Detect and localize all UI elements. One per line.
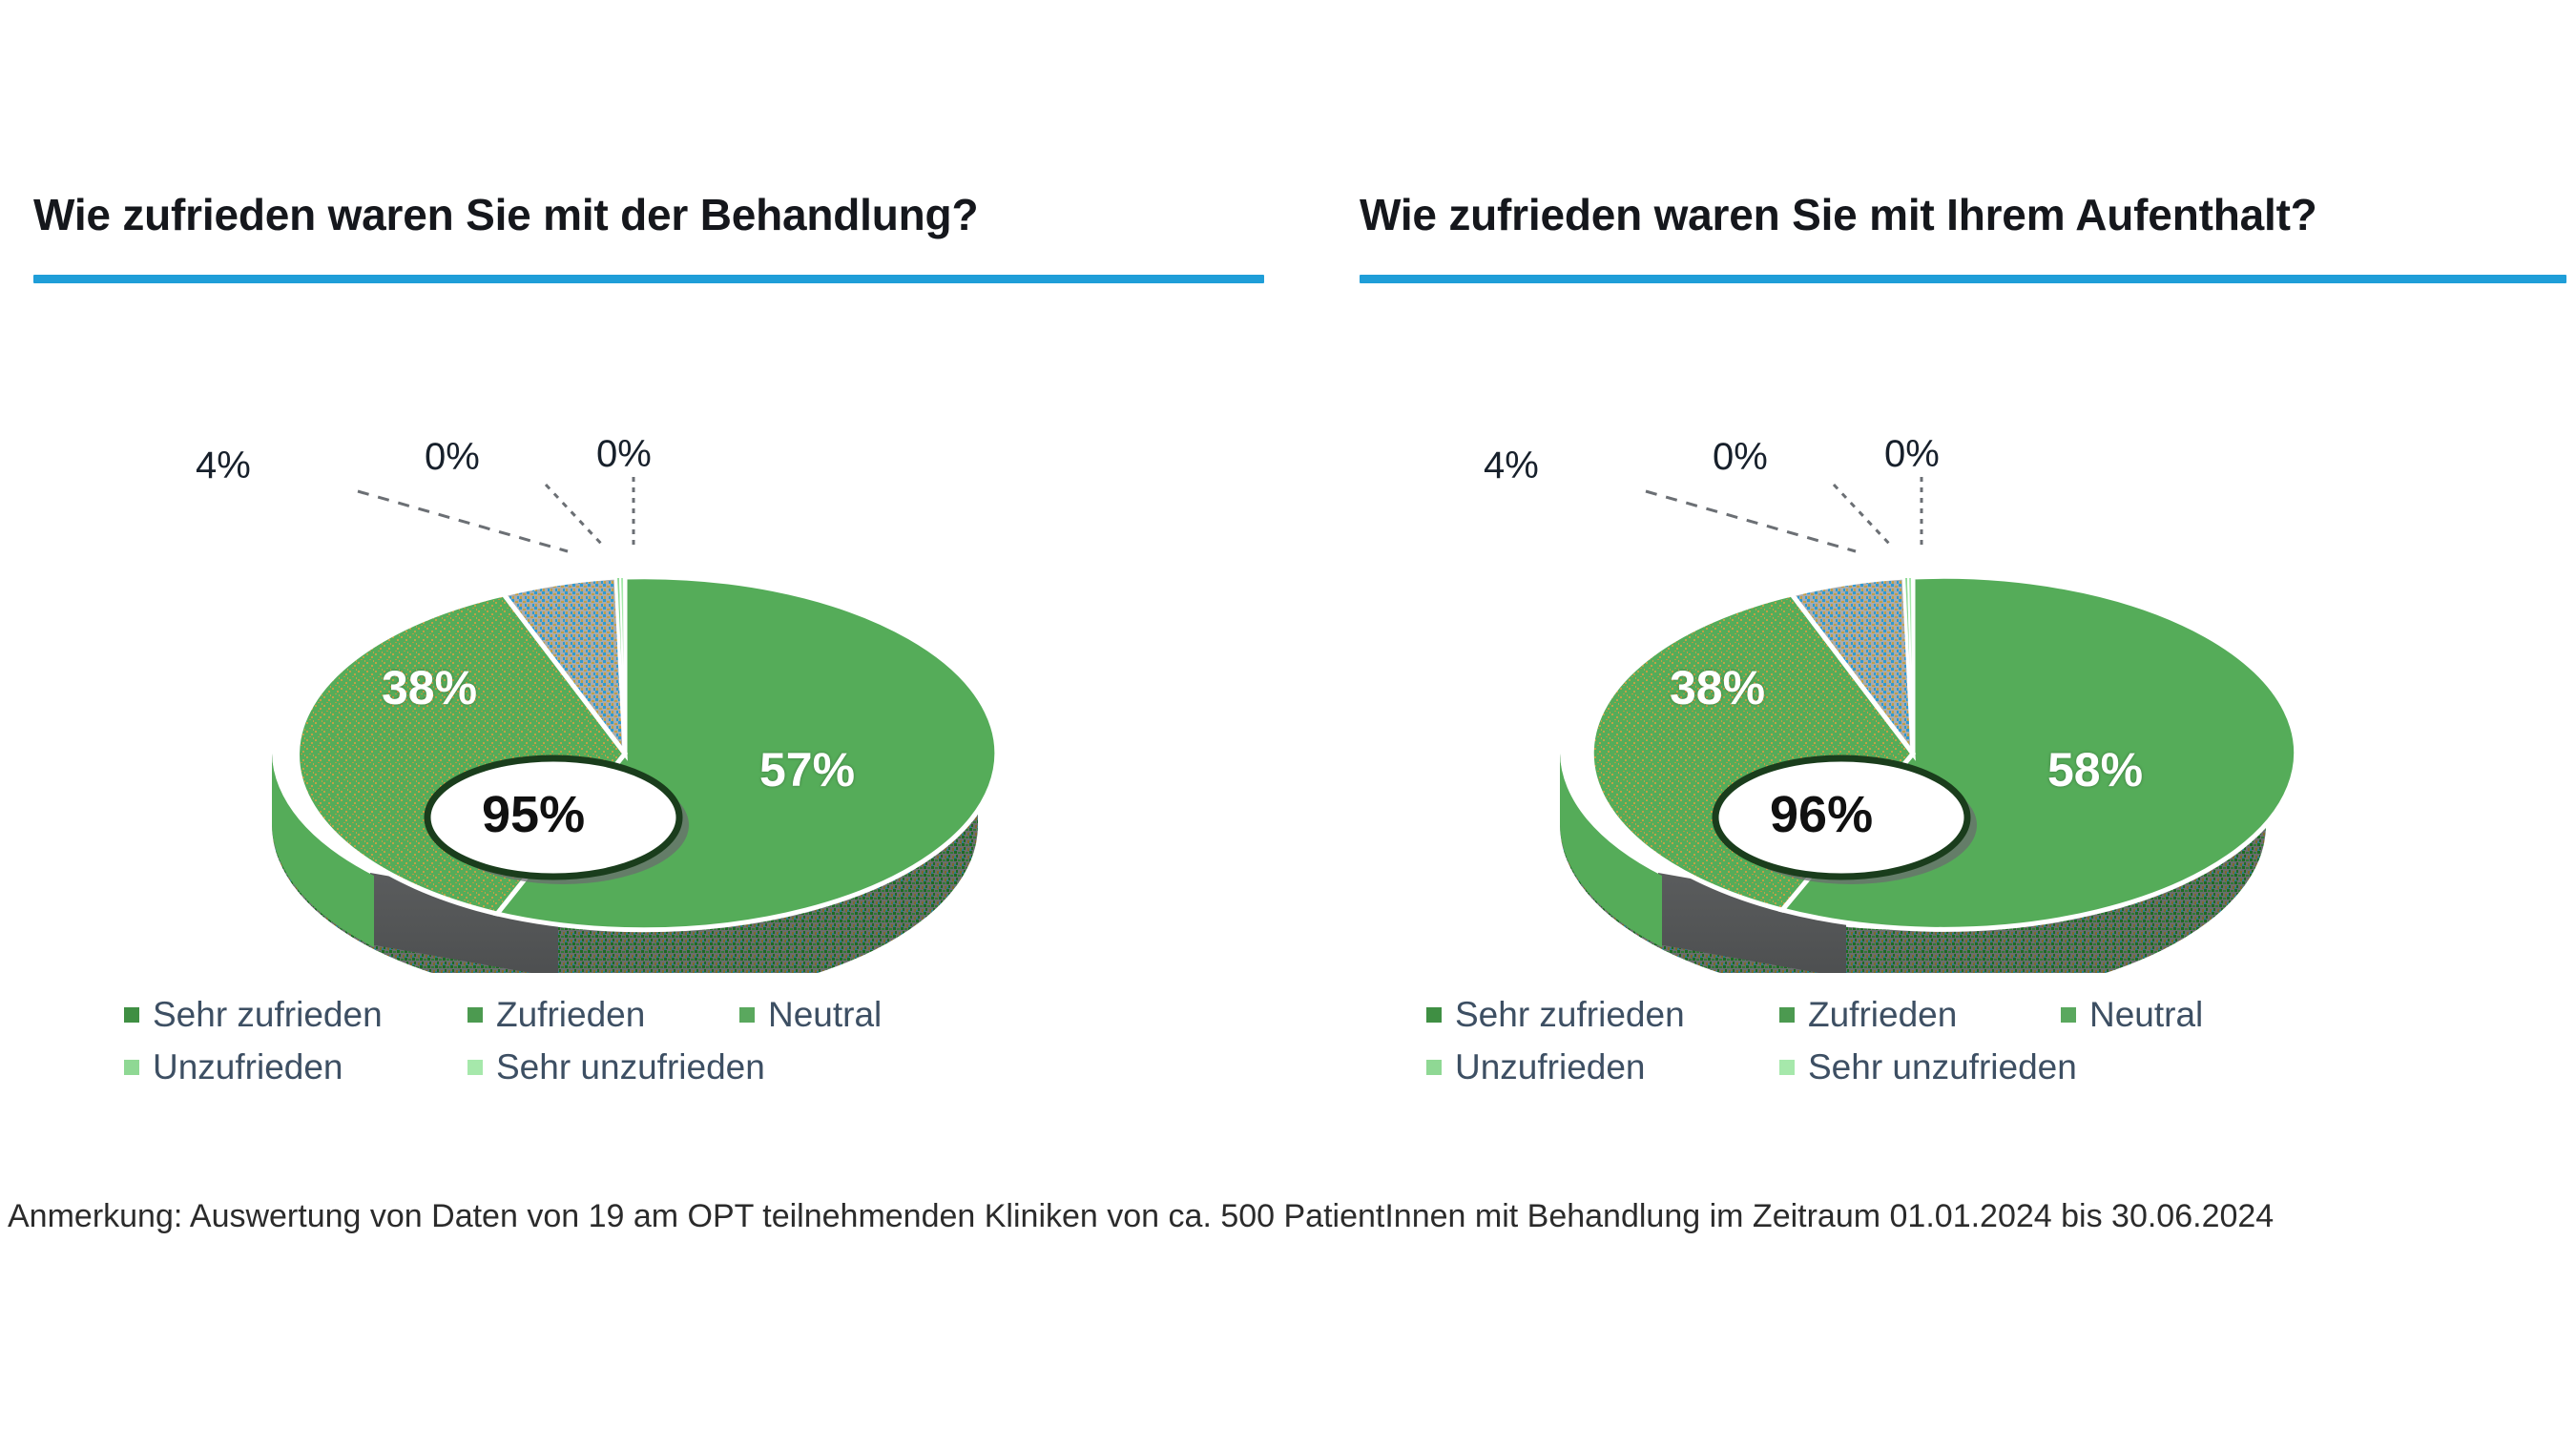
legend-swatch-icon xyxy=(467,1007,483,1023)
legend-item-unzufrieden[interactable]: Unzufrieden xyxy=(124,1049,467,1085)
slide-canvas: Wie zufrieden waren Sie mit der Behandlu… xyxy=(0,0,2576,1448)
legend-row: Unzufrieden Sehr unzufrieden xyxy=(1426,1049,2390,1085)
pie-graphic: 57% 38% 4% 0% 0% 95% xyxy=(229,439,1021,973)
legend-label: Zufrieden xyxy=(1808,997,1957,1032)
legend-swatch-icon xyxy=(124,1007,139,1023)
pie-chart-aufenthalt: 58% 38% 4% 0% 0% 96% xyxy=(1326,382,2576,973)
legend-item-sehr-unzufrieden[interactable]: Sehr unzufrieden xyxy=(1779,1049,2077,1085)
pie-svg-behandlung xyxy=(229,439,1021,973)
legend-item-sehr-unzufrieden[interactable]: Sehr unzufrieden xyxy=(467,1049,765,1085)
legend-item-unzufrieden[interactable]: Unzufrieden xyxy=(1426,1049,1779,1085)
callout-value-unzufrieden: 0% xyxy=(1713,436,1768,479)
legend-item-neutral[interactable]: Neutral xyxy=(739,997,882,1032)
pie-top-face xyxy=(298,577,997,930)
legend-item-zufrieden[interactable]: Zufrieden xyxy=(467,997,739,1032)
callout-value-neutral: 4% xyxy=(1484,445,1539,487)
legend-label: Sehr unzufrieden xyxy=(1808,1049,2077,1085)
slice-value-sehr-zufrieden: 58% xyxy=(2047,742,2143,797)
legend-label: Sehr zufrieden xyxy=(153,997,383,1032)
legend-swatch-icon xyxy=(124,1060,139,1075)
legend-item-sehr-zufrieden[interactable]: Sehr zufrieden xyxy=(1426,997,1779,1032)
pie-chart-behandlung: 57% 38% 4% 0% 0% 95% xyxy=(0,382,1298,973)
callout-value-unzufrieden: 0% xyxy=(425,436,480,479)
callout-value-sehr-unzufrieden: 0% xyxy=(596,433,652,476)
legend-swatch-icon xyxy=(1426,1060,1442,1075)
legend-swatch-icon xyxy=(2061,1007,2076,1023)
legend-label: Sehr zufrieden xyxy=(1455,997,1685,1032)
title-underline-rule xyxy=(1360,275,2566,283)
legend-label: Unzufrieden xyxy=(1455,1049,1646,1085)
center-value-behandlung: 95% xyxy=(482,785,585,844)
callout-leader-lines xyxy=(1646,477,1922,551)
page-title-behandlung: Wie zufrieden waren Sie mit der Behandlu… xyxy=(33,189,978,240)
legend-swatch-icon xyxy=(1779,1007,1795,1023)
page-title-aufenthalt: Wie zufrieden waren Sie mit Ihrem Aufent… xyxy=(1360,189,2317,240)
pie-svg-aufenthalt xyxy=(1517,439,2309,973)
legend-aufenthalt: Sehr zufrieden Zufrieden Neutral Unzufri… xyxy=(1426,997,2390,1102)
legend-swatch-icon xyxy=(739,1007,755,1023)
legend-swatch-icon xyxy=(1426,1007,1442,1023)
slice-value-zufrieden: 38% xyxy=(382,660,477,715)
legend-item-sehr-zufrieden[interactable]: Sehr zufrieden xyxy=(124,997,467,1032)
legend-row: Sehr zufrieden Zufrieden Neutral xyxy=(1426,997,2390,1032)
legend-label: Neutral xyxy=(2089,997,2203,1032)
legend-row: Sehr zufrieden Zufrieden Neutral xyxy=(124,997,1040,1032)
slice-value-zufrieden: 38% xyxy=(1670,660,1765,715)
title-underline-rule xyxy=(33,275,1264,283)
legend-label: Unzufrieden xyxy=(153,1049,343,1085)
footnote-annotation: Anmerkung: Auswertung von Daten von 19 a… xyxy=(8,1198,2274,1235)
callout-value-sehr-unzufrieden: 0% xyxy=(1884,433,1940,476)
legend-item-zufrieden[interactable]: Zufrieden xyxy=(1779,997,2061,1032)
center-value-aufenthalt: 96% xyxy=(1770,785,1873,844)
legend-label: Neutral xyxy=(768,997,882,1032)
callout-value-neutral: 4% xyxy=(196,445,251,487)
legend-label: Zufrieden xyxy=(496,997,645,1032)
pie-graphic: 58% 38% 4% 0% 0% 96% xyxy=(1517,439,2309,973)
legend-item-neutral[interactable]: Neutral xyxy=(2061,997,2203,1032)
slice-value-sehr-zufrieden: 57% xyxy=(759,742,855,797)
legend-label: Sehr unzufrieden xyxy=(496,1049,765,1085)
legend-swatch-icon xyxy=(467,1060,483,1075)
legend-swatch-icon xyxy=(1779,1060,1795,1075)
callout-leader-lines xyxy=(358,477,634,551)
legend-row: Unzufrieden Sehr unzufrieden xyxy=(124,1049,1040,1085)
pie-top-face xyxy=(1591,576,2296,929)
legend-behandlung: Sehr zufrieden Zufrieden Neutral Unzufri… xyxy=(124,997,1040,1102)
